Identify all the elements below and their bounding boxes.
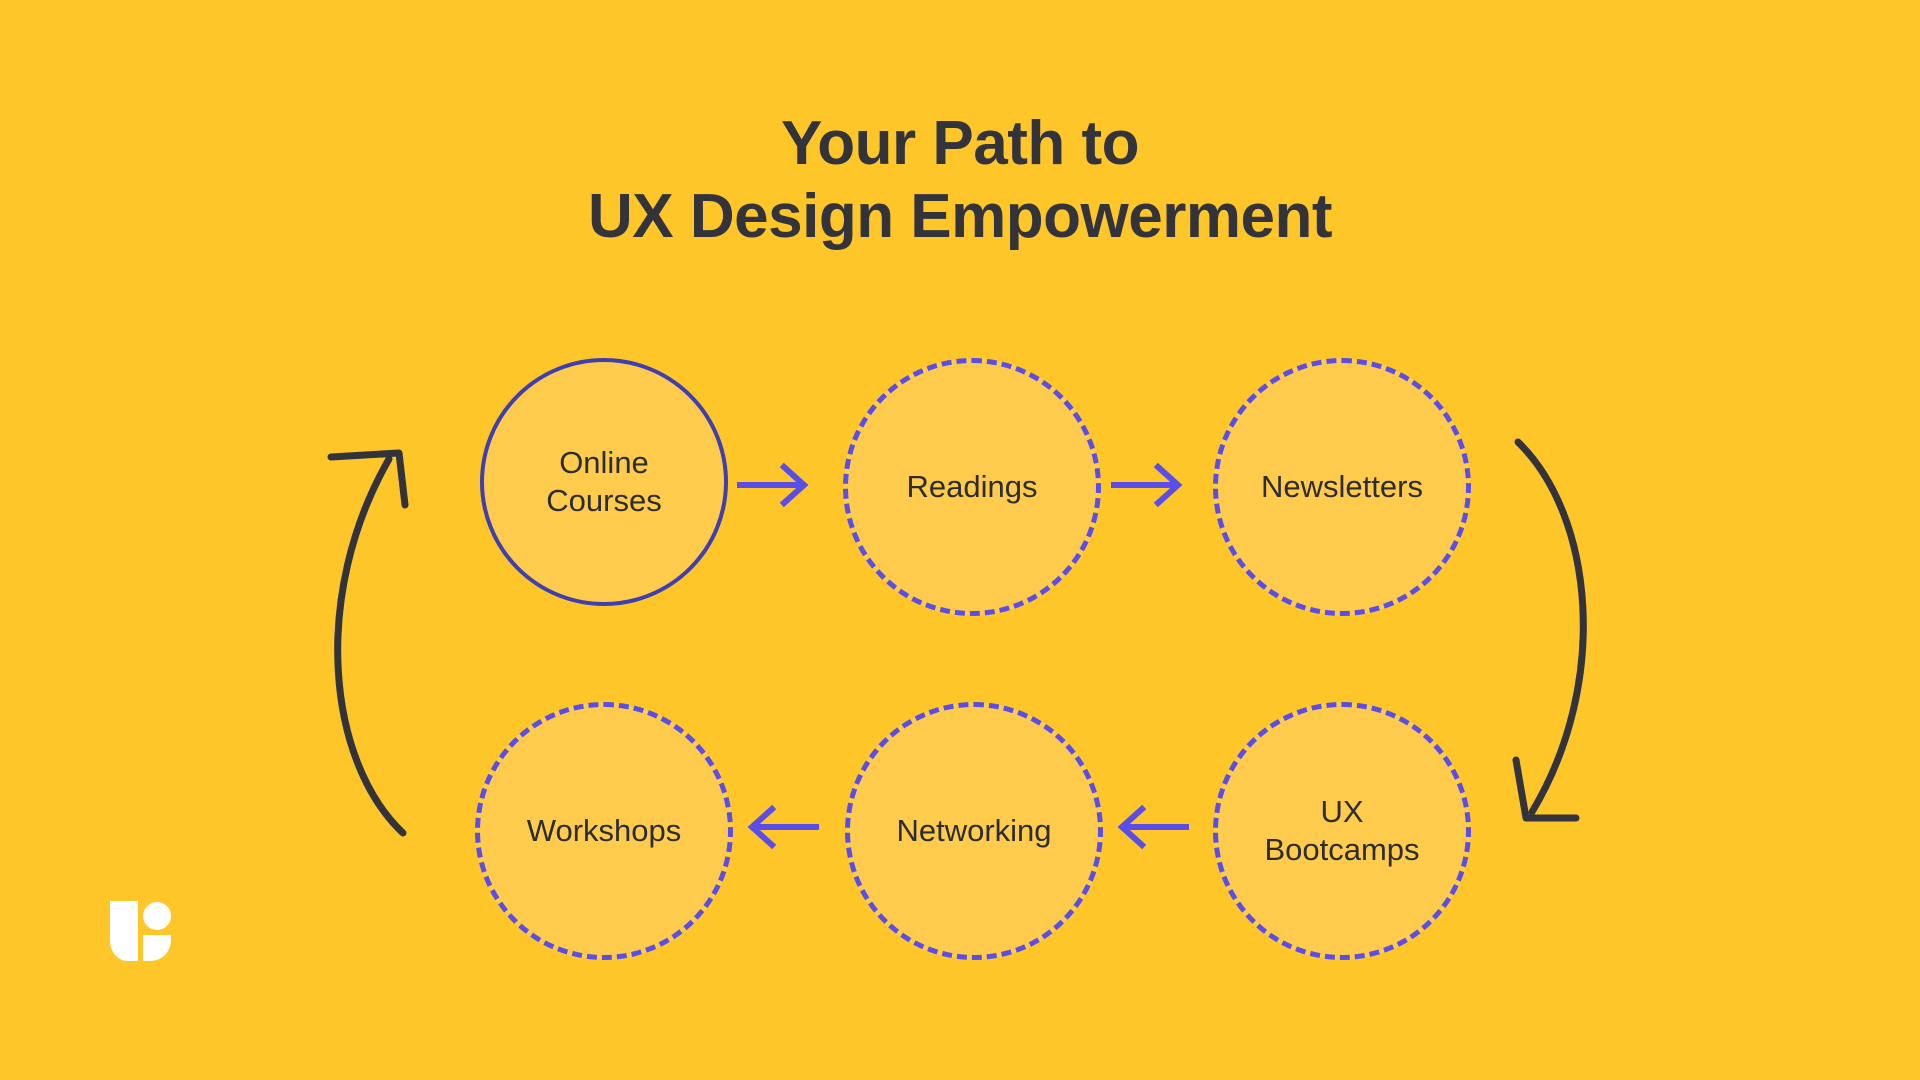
diagram-node-workshops[interactable]: Workshops bbox=[475, 702, 733, 960]
diagram-node-label: Readings bbox=[899, 468, 1046, 506]
brand-logo-icon bbox=[108, 895, 174, 967]
diagram-node-readings[interactable]: Readings bbox=[843, 358, 1101, 616]
page-title-line-2: UX Design Empowerment bbox=[0, 181, 1920, 254]
arrow-right-icon bbox=[736, 455, 816, 515]
curved-arrow-down-icon bbox=[1490, 420, 1630, 840]
arrow-right-icon bbox=[1110, 455, 1190, 515]
diagram-node-online-courses[interactable]: Online Courses bbox=[480, 358, 728, 606]
diagram-node-networking[interactable]: Networking bbox=[845, 702, 1103, 960]
diagram-node-ux-bootcamps[interactable]: UX Bootcamps bbox=[1213, 702, 1471, 960]
diagram-node-label: Networking bbox=[888, 812, 1059, 850]
arrow-left-icon bbox=[1110, 797, 1190, 857]
arrow-left-icon bbox=[740, 797, 820, 857]
diagram-node-label: UX Bootcamps bbox=[1256, 793, 1427, 869]
page-title: Your Path to UX Design Empowerment bbox=[0, 108, 1920, 253]
diagram-node-newsletters[interactable]: Newsletters bbox=[1213, 358, 1471, 616]
curved-arrow-up-icon bbox=[295, 435, 435, 855]
diagram-node-label: Online Courses bbox=[538, 444, 669, 520]
slide-canvas: Your Path to UX Design Empowerment Onlin… bbox=[0, 0, 1920, 1080]
diagram-node-label: Newsletters bbox=[1253, 468, 1431, 506]
diagram-node-label: Workshops bbox=[519, 812, 690, 850]
page-title-line-1: Your Path to bbox=[0, 108, 1920, 181]
